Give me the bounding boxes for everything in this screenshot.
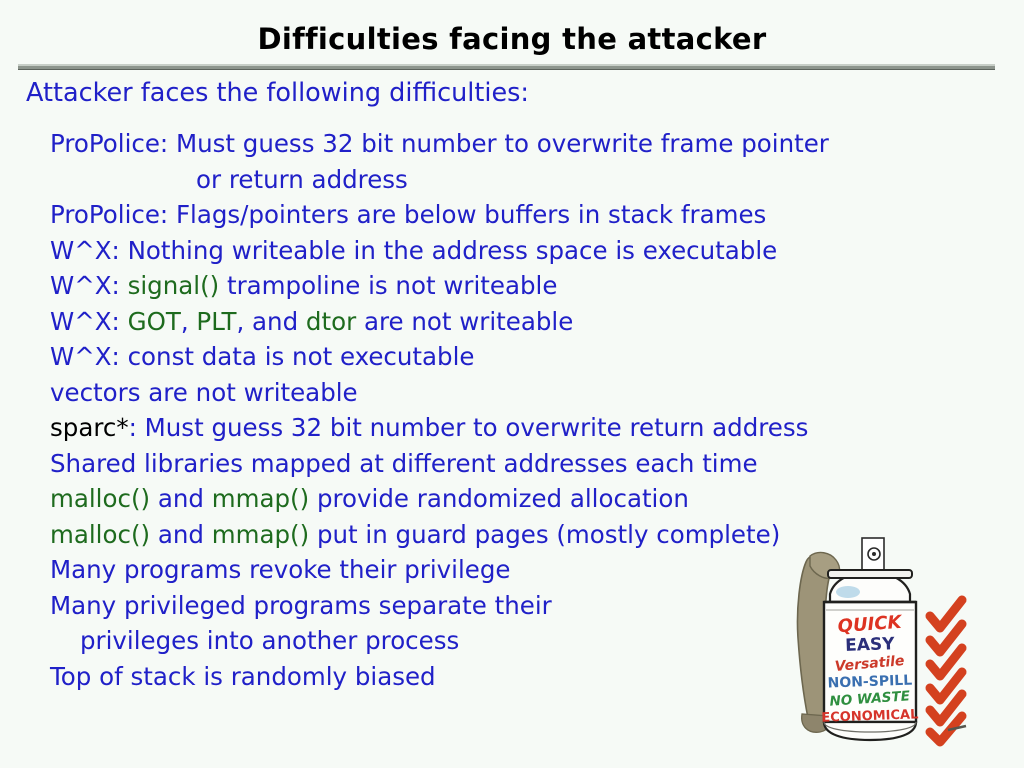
lead-line: Attacker faces the following difficultie… bbox=[26, 78, 529, 108]
bullet-segment: and bbox=[150, 484, 212, 513]
bullet-segment: ProPolice: Flags/pointers are below buff… bbox=[50, 200, 766, 229]
bullet-wx-const-data: W^X: const data is not executable bbox=[0, 339, 1024, 375]
checkmark-column bbox=[930, 600, 962, 742]
bullet-segment: sparc* bbox=[50, 413, 129, 442]
title-divider-rule bbox=[18, 64, 995, 70]
bullet-segment: Many privileged programs separate their bbox=[50, 591, 552, 620]
bullet-segment: PLT bbox=[196, 307, 236, 336]
bullet-segment: provide randomized allocation bbox=[309, 484, 689, 513]
bullet-segment: malloc() bbox=[50, 484, 150, 513]
bullet-segment: Shared libraries mapped at different add… bbox=[50, 449, 758, 478]
bullet-segment: mmap() bbox=[212, 484, 309, 513]
bullet-propolice-guess-cont: or return address bbox=[0, 162, 1024, 198]
bullet-segment: mmap() bbox=[212, 520, 309, 549]
bullet-segment: W^X: bbox=[50, 307, 128, 336]
slide-canvas: Difficulties facing the attacker Attacke… bbox=[0, 0, 1024, 768]
bullet-segment: Many programs revoke their privilege bbox=[50, 555, 511, 584]
bullet-segment: , bbox=[181, 307, 197, 336]
bullet-segment: privileges into another process bbox=[80, 626, 459, 655]
bullet-wx-signal-trampoline: W^X: signal() trampoline is not writeabl… bbox=[0, 268, 1024, 304]
bullet-wx-nothing-writeable: W^X: Nothing writeable in the address sp… bbox=[0, 233, 1024, 269]
bullet-malloc-mmap-randomized: malloc() and mmap() provide randomized a… bbox=[0, 481, 1024, 517]
bullet-segment: trampoline is not writeable bbox=[219, 271, 557, 300]
divider-shadow bbox=[18, 69, 995, 70]
nozzle-tag bbox=[862, 538, 884, 570]
bullet-segment: W^X: Nothing writeable in the address sp… bbox=[50, 236, 777, 265]
spray-can-illustration: QUICK EASY Versatile NON-SPILL NO WASTE … bbox=[770, 528, 1020, 754]
bullet-segment: put in guard pages (mostly complete) bbox=[309, 520, 780, 549]
bullet-segment: malloc() bbox=[50, 520, 150, 549]
bullet-segment: W^X: bbox=[50, 271, 128, 300]
bullet-segment: : Must guess 32 bit number to overwrite … bbox=[129, 413, 809, 442]
can-cap bbox=[828, 570, 912, 602]
can-label-easy: EASY bbox=[845, 634, 896, 656]
bullet-segment: and bbox=[150, 520, 212, 549]
slide-title: Difficulties facing the attacker bbox=[0, 22, 1024, 56]
bullet-segment: signal() bbox=[128, 271, 220, 300]
bullet-vectors-not-writeable: vectors are not writeable bbox=[0, 375, 1024, 411]
bullet-wx-got-plt-dtor: W^X: GOT, PLT, and dtor are not writeabl… bbox=[0, 304, 1024, 340]
bullet-segment: are not writeable bbox=[356, 307, 573, 336]
bullet-propolice-guess: ProPolice: Must guess 32 bit number to o… bbox=[0, 126, 1024, 162]
bullet-segment: GOT bbox=[128, 307, 181, 336]
bullet-segment: dtor bbox=[306, 307, 356, 336]
bullet-segment: W^X: const data is not executable bbox=[50, 342, 474, 371]
bullet-segment: , and bbox=[236, 307, 305, 336]
bullet-sparc-guess: sparc*: Must guess 32 bit number to over… bbox=[0, 410, 1024, 446]
bullet-segment: Top of stack is randomly biased bbox=[50, 662, 436, 691]
bullet-segment: vectors are not writeable bbox=[50, 378, 358, 407]
bullet-shared-libraries: Shared libraries mapped at different add… bbox=[0, 446, 1024, 482]
bullet-propolice-flags: ProPolice: Flags/pointers are below buff… bbox=[0, 197, 1024, 233]
bullet-segment: ProPolice: Must guess 32 bit number to o… bbox=[50, 129, 829, 158]
bullet-segment: or return address bbox=[196, 165, 408, 194]
